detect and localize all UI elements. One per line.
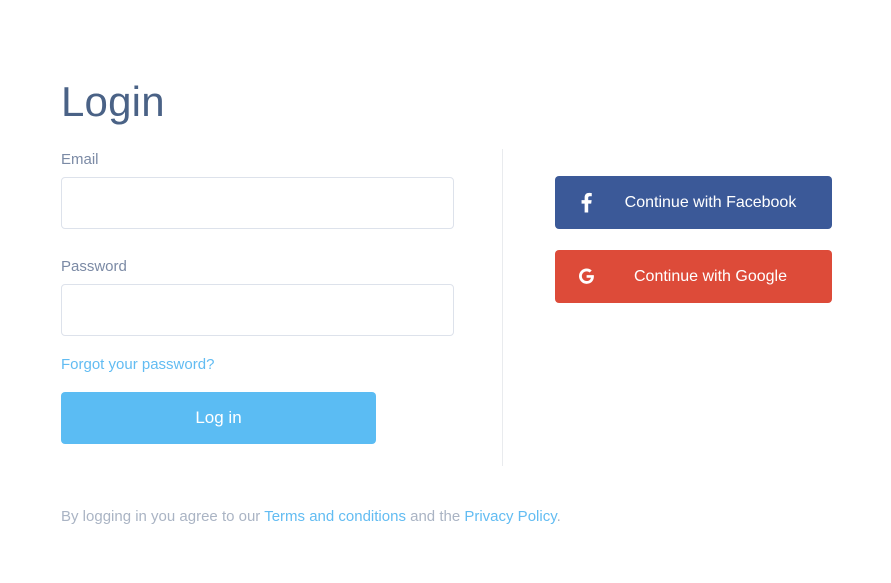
column-divider [502, 149, 503, 466]
forgot-password-link[interactable]: Forgot your password? [61, 355, 214, 375]
password-field-group: Password [61, 257, 454, 336]
email-field-group: Email [61, 150, 454, 229]
email-label: Email [61, 150, 454, 170]
google-button-label: Continue with Google [617, 267, 832, 287]
legal-footer: By logging in you agree to our Terms and… [61, 507, 561, 527]
login-form: Email Password Forgot your password? Log… [61, 150, 454, 444]
continue-with-facebook-button[interactable]: Continue with Facebook [555, 176, 832, 229]
continue-with-google-button[interactable]: Continue with Google [555, 250, 832, 303]
password-label: Password [61, 257, 454, 277]
email-input[interactable] [61, 177, 454, 229]
page-title: Login [61, 76, 165, 128]
footer-suffix-text: . [557, 508, 561, 525]
google-g-icon [555, 267, 617, 286]
facebook-f-icon [555, 192, 617, 213]
privacy-policy-link[interactable]: Privacy Policy [464, 508, 556, 525]
footer-middle-text: and the [406, 508, 464, 525]
login-page: Login Email Password Forgot your passwor… [0, 0, 891, 583]
footer-prefix-text: By logging in you agree to our [61, 508, 264, 525]
social-login-column: Continue with Facebook Continue with Goo… [555, 176, 832, 303]
terms-and-conditions-link[interactable]: Terms and conditions [264, 508, 406, 525]
password-input[interactable] [61, 284, 454, 336]
log-in-button[interactable]: Log in [61, 392, 376, 444]
facebook-button-label: Continue with Facebook [617, 193, 832, 213]
